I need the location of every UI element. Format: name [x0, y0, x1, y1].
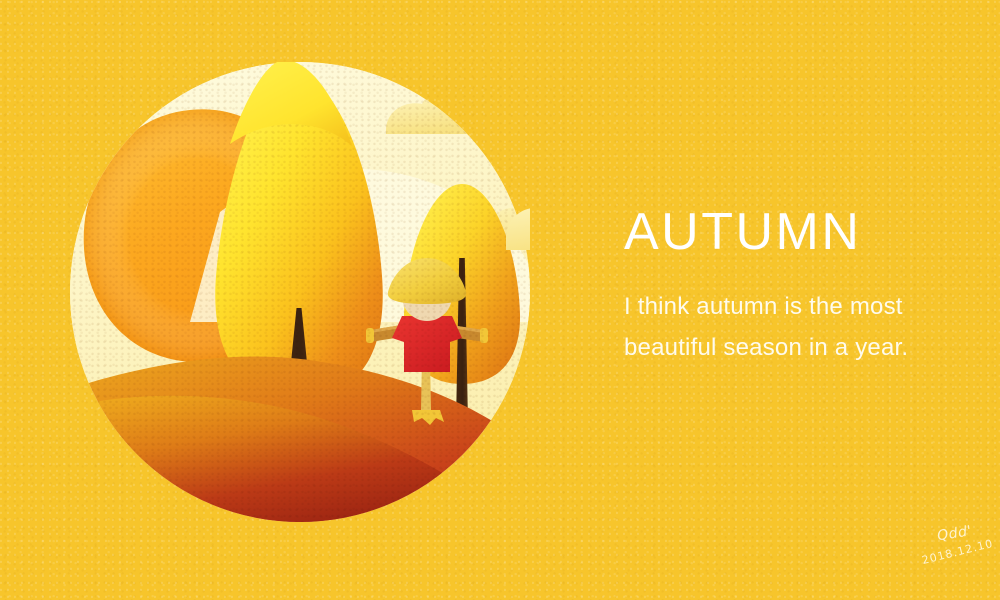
page-title: AUTUMN — [624, 206, 964, 258]
autumn-scene-illustration — [70, 62, 530, 522]
subtitle-line-2: beautiful season in a year. — [624, 327, 964, 368]
scene-disc — [70, 62, 530, 522]
subtitle-line-1: I think autumn is the most — [624, 286, 964, 327]
page-subtitle: I think autumn is the most beautiful sea… — [624, 258, 964, 369]
artist-signature: Qdd' 2018.12.10 — [908, 520, 1000, 566]
poster-canvas: AUTUMN I think autumn is the most beauti… — [0, 0, 1000, 600]
scene-layers — [70, 62, 530, 522]
text-block: AUTUMN I think autumn is the most beauti… — [624, 206, 964, 369]
